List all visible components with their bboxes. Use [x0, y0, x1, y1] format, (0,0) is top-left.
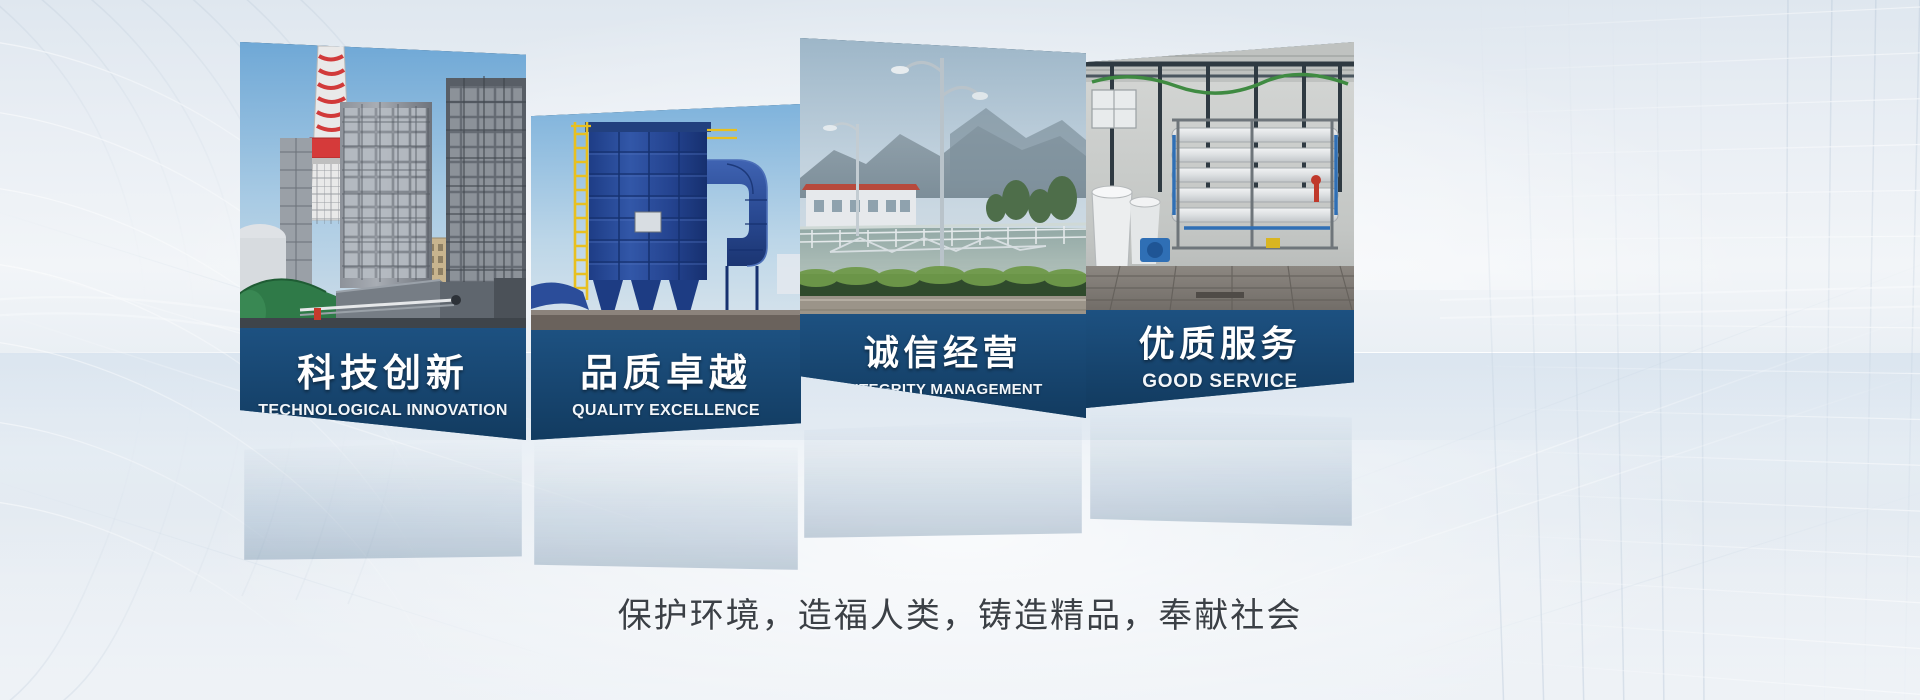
water-treatment-membrane-room-photo: [1086, 42, 1354, 310]
feature-card-4-caption: 优质服务 GOOD SERVICE: [1086, 310, 1354, 408]
feature-card-4[interactable]: 优质服务 GOOD SERVICE: [1086, 42, 1354, 408]
corporate-banner: 科技创新 TECHNOLOGICAL INNOVATION: [0, 0, 1920, 700]
feature-card-2[interactable]: 品质卓越 QUALITY EXCELLENCE: [531, 104, 801, 440]
feature-card-1-title-cn: 科技创新: [297, 354, 469, 392]
feature-card-1-caption: 科技创新 TECHNOLOGICAL INNOVATION: [240, 328, 526, 440]
feature-card-1-title-en: TECHNOLOGICAL INNOVATION: [258, 403, 507, 419]
wastewater-treatment-plant-photo: [800, 38, 1086, 316]
feature-card-3-title-cn: 诚信经营: [864, 337, 1022, 372]
feature-card-2-caption: 品质卓越 QUALITY EXCELLENCE: [531, 330, 801, 440]
feature-card-2-title-cn: 品质卓越: [580, 354, 752, 392]
feature-card-3[interactable]: 诚信经营 INTEGRITY MANAGEMENT: [800, 38, 1086, 418]
feature-card-3-caption: 诚信经营 INTEGRITY MANAGEMENT: [800, 314, 1086, 418]
feature-card-4-title-en: GOOD SERVICE: [1142, 372, 1298, 391]
feature-card-3-title-en: INTEGRITY MANAGEMENT: [843, 382, 1042, 397]
feature-card-4-title-cn: 优质服务: [1139, 327, 1302, 363]
blue-dust-collector-equipment-photo: [531, 104, 801, 332]
feature-card-1[interactable]: 科技创新 TECHNOLOGICAL INNOVATION: [240, 42, 526, 440]
banner-tagline: 保护环境，造福人类，铸造精品，奉献社会: [0, 588, 1920, 637]
industrial-smokestack-plant-photo: [240, 42, 526, 332]
feature-card-2-title-en: QUALITY EXCELLENCE: [572, 403, 760, 419]
